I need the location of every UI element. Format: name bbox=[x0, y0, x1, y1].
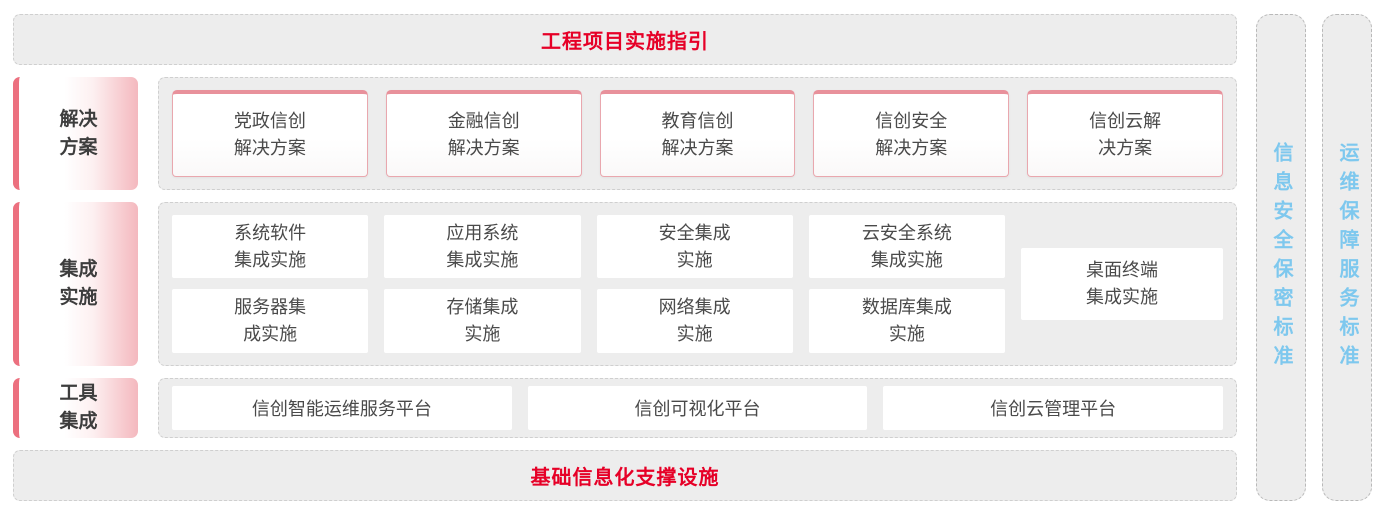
row-label-tools[interactable]: 工具 集成 bbox=[13, 378, 138, 439]
integration-card[interactable]: 云安全系统 集成实施 bbox=[809, 215, 1005, 278]
integration-card[interactable]: 安全集成 实施 bbox=[597, 215, 793, 278]
tools-strip: 信创智能运维服务平台 信创可视化平台 信创云管理平台 bbox=[158, 378, 1237, 439]
standard-panel-ops-label: 运维保障服务标准 bbox=[1337, 142, 1357, 374]
solution-card[interactable]: 金融信创 解决方案 bbox=[386, 90, 582, 177]
bottom-banner: 基础信息化支撑设施 bbox=[13, 450, 1237, 501]
tool-card-grid: 信创智能运维服务平台 信创可视化平台 信创云管理平台 bbox=[172, 386, 1223, 431]
standard-panel-ops[interactable]: 运维保障服务标准 bbox=[1322, 14, 1372, 501]
tool-card[interactable]: 信创云管理平台 bbox=[883, 386, 1223, 431]
spacer bbox=[13, 65, 1237, 77]
solution-card[interactable]: 党政信创 解决方案 bbox=[172, 90, 368, 177]
standard-panel-security[interactable]: 信息安全保密标准 bbox=[1256, 14, 1306, 501]
integration-card[interactable]: 存储集成 实施 bbox=[384, 289, 580, 352]
integration-card[interactable]: 网络集成 实施 bbox=[597, 289, 793, 352]
main-column: 工程项目实施指引 解决 方案 党政信创 解决方案 金融信创 解决方案 教育信创 … bbox=[13, 14, 1237, 501]
solution-card-grid: 党政信创 解决方案 金融信创 解决方案 教育信创 解决方案 信创安全 解决方案 … bbox=[172, 90, 1223, 177]
tool-card[interactable]: 信创可视化平台 bbox=[528, 386, 868, 431]
solution-card[interactable]: 信创云解 决方案 bbox=[1027, 90, 1223, 177]
integration-card[interactable]: 数据库集成 实施 bbox=[809, 289, 1005, 352]
spacer bbox=[13, 190, 1237, 202]
integration-card[interactable]: 服务器集 成实施 bbox=[172, 289, 368, 352]
integration-side-slot: 桌面终端 集成实施 bbox=[1021, 215, 1223, 352]
top-banner-title: 工程项目实施指引 bbox=[541, 25, 709, 54]
integration-card[interactable]: 应用系统 集成实施 bbox=[384, 215, 580, 278]
tool-card[interactable]: 信创智能运维服务平台 bbox=[172, 386, 512, 431]
solution-card[interactable]: 教育信创 解决方案 bbox=[600, 90, 796, 177]
row-tools: 工具 集成 信创智能运维服务平台 信创可视化平台 信创云管理平台 bbox=[13, 378, 1237, 439]
spacer bbox=[13, 438, 1237, 450]
standard-panel-security-label: 信息安全保密标准 bbox=[1271, 142, 1291, 374]
integration-card-grid: 系统软件 集成实施 应用系统 集成实施 安全集成 实施 云安全系统 集成实施 服… bbox=[172, 215, 1005, 352]
integration-wrap: 系统软件 集成实施 应用系统 集成实施 安全集成 实施 云安全系统 集成实施 服… bbox=[172, 215, 1223, 352]
bottom-banner-title: 基础信息化支撑设施 bbox=[531, 461, 720, 490]
row-integration: 集成 实施 系统软件 集成实施 应用系统 集成实施 安全集成 实施 云安全系统 … bbox=[13, 202, 1237, 365]
diagram-root: 工程项目实施指引 解决 方案 党政信创 解决方案 金融信创 解决方案 教育信创 … bbox=[0, 0, 1390, 515]
solution-strip: 党政信创 解决方案 金融信创 解决方案 教育信创 解决方案 信创安全 解决方案 … bbox=[158, 77, 1237, 190]
row-label-integration[interactable]: 集成 实施 bbox=[13, 202, 138, 365]
row-solution: 解决 方案 党政信创 解决方案 金融信创 解决方案 教育信创 解决方案 信创安全… bbox=[13, 77, 1237, 190]
row-label-integration-text: 集成 实施 bbox=[59, 256, 97, 311]
row-label-solution-text: 解决 方案 bbox=[59, 106, 97, 161]
solution-card[interactable]: 信创安全 解决方案 bbox=[813, 90, 1009, 177]
spacer bbox=[13, 366, 1237, 378]
integration-strip: 系统软件 集成实施 应用系统 集成实施 安全集成 实施 云安全系统 集成实施 服… bbox=[158, 202, 1237, 365]
row-label-solution[interactable]: 解决 方案 bbox=[13, 77, 138, 190]
top-banner: 工程项目实施指引 bbox=[13, 14, 1237, 65]
row-label-tools-text: 工具 集成 bbox=[59, 380, 97, 435]
integration-card-desktop-terminal[interactable]: 桌面终端 集成实施 bbox=[1021, 248, 1223, 320]
integration-card[interactable]: 系统软件 集成实施 bbox=[172, 215, 368, 278]
